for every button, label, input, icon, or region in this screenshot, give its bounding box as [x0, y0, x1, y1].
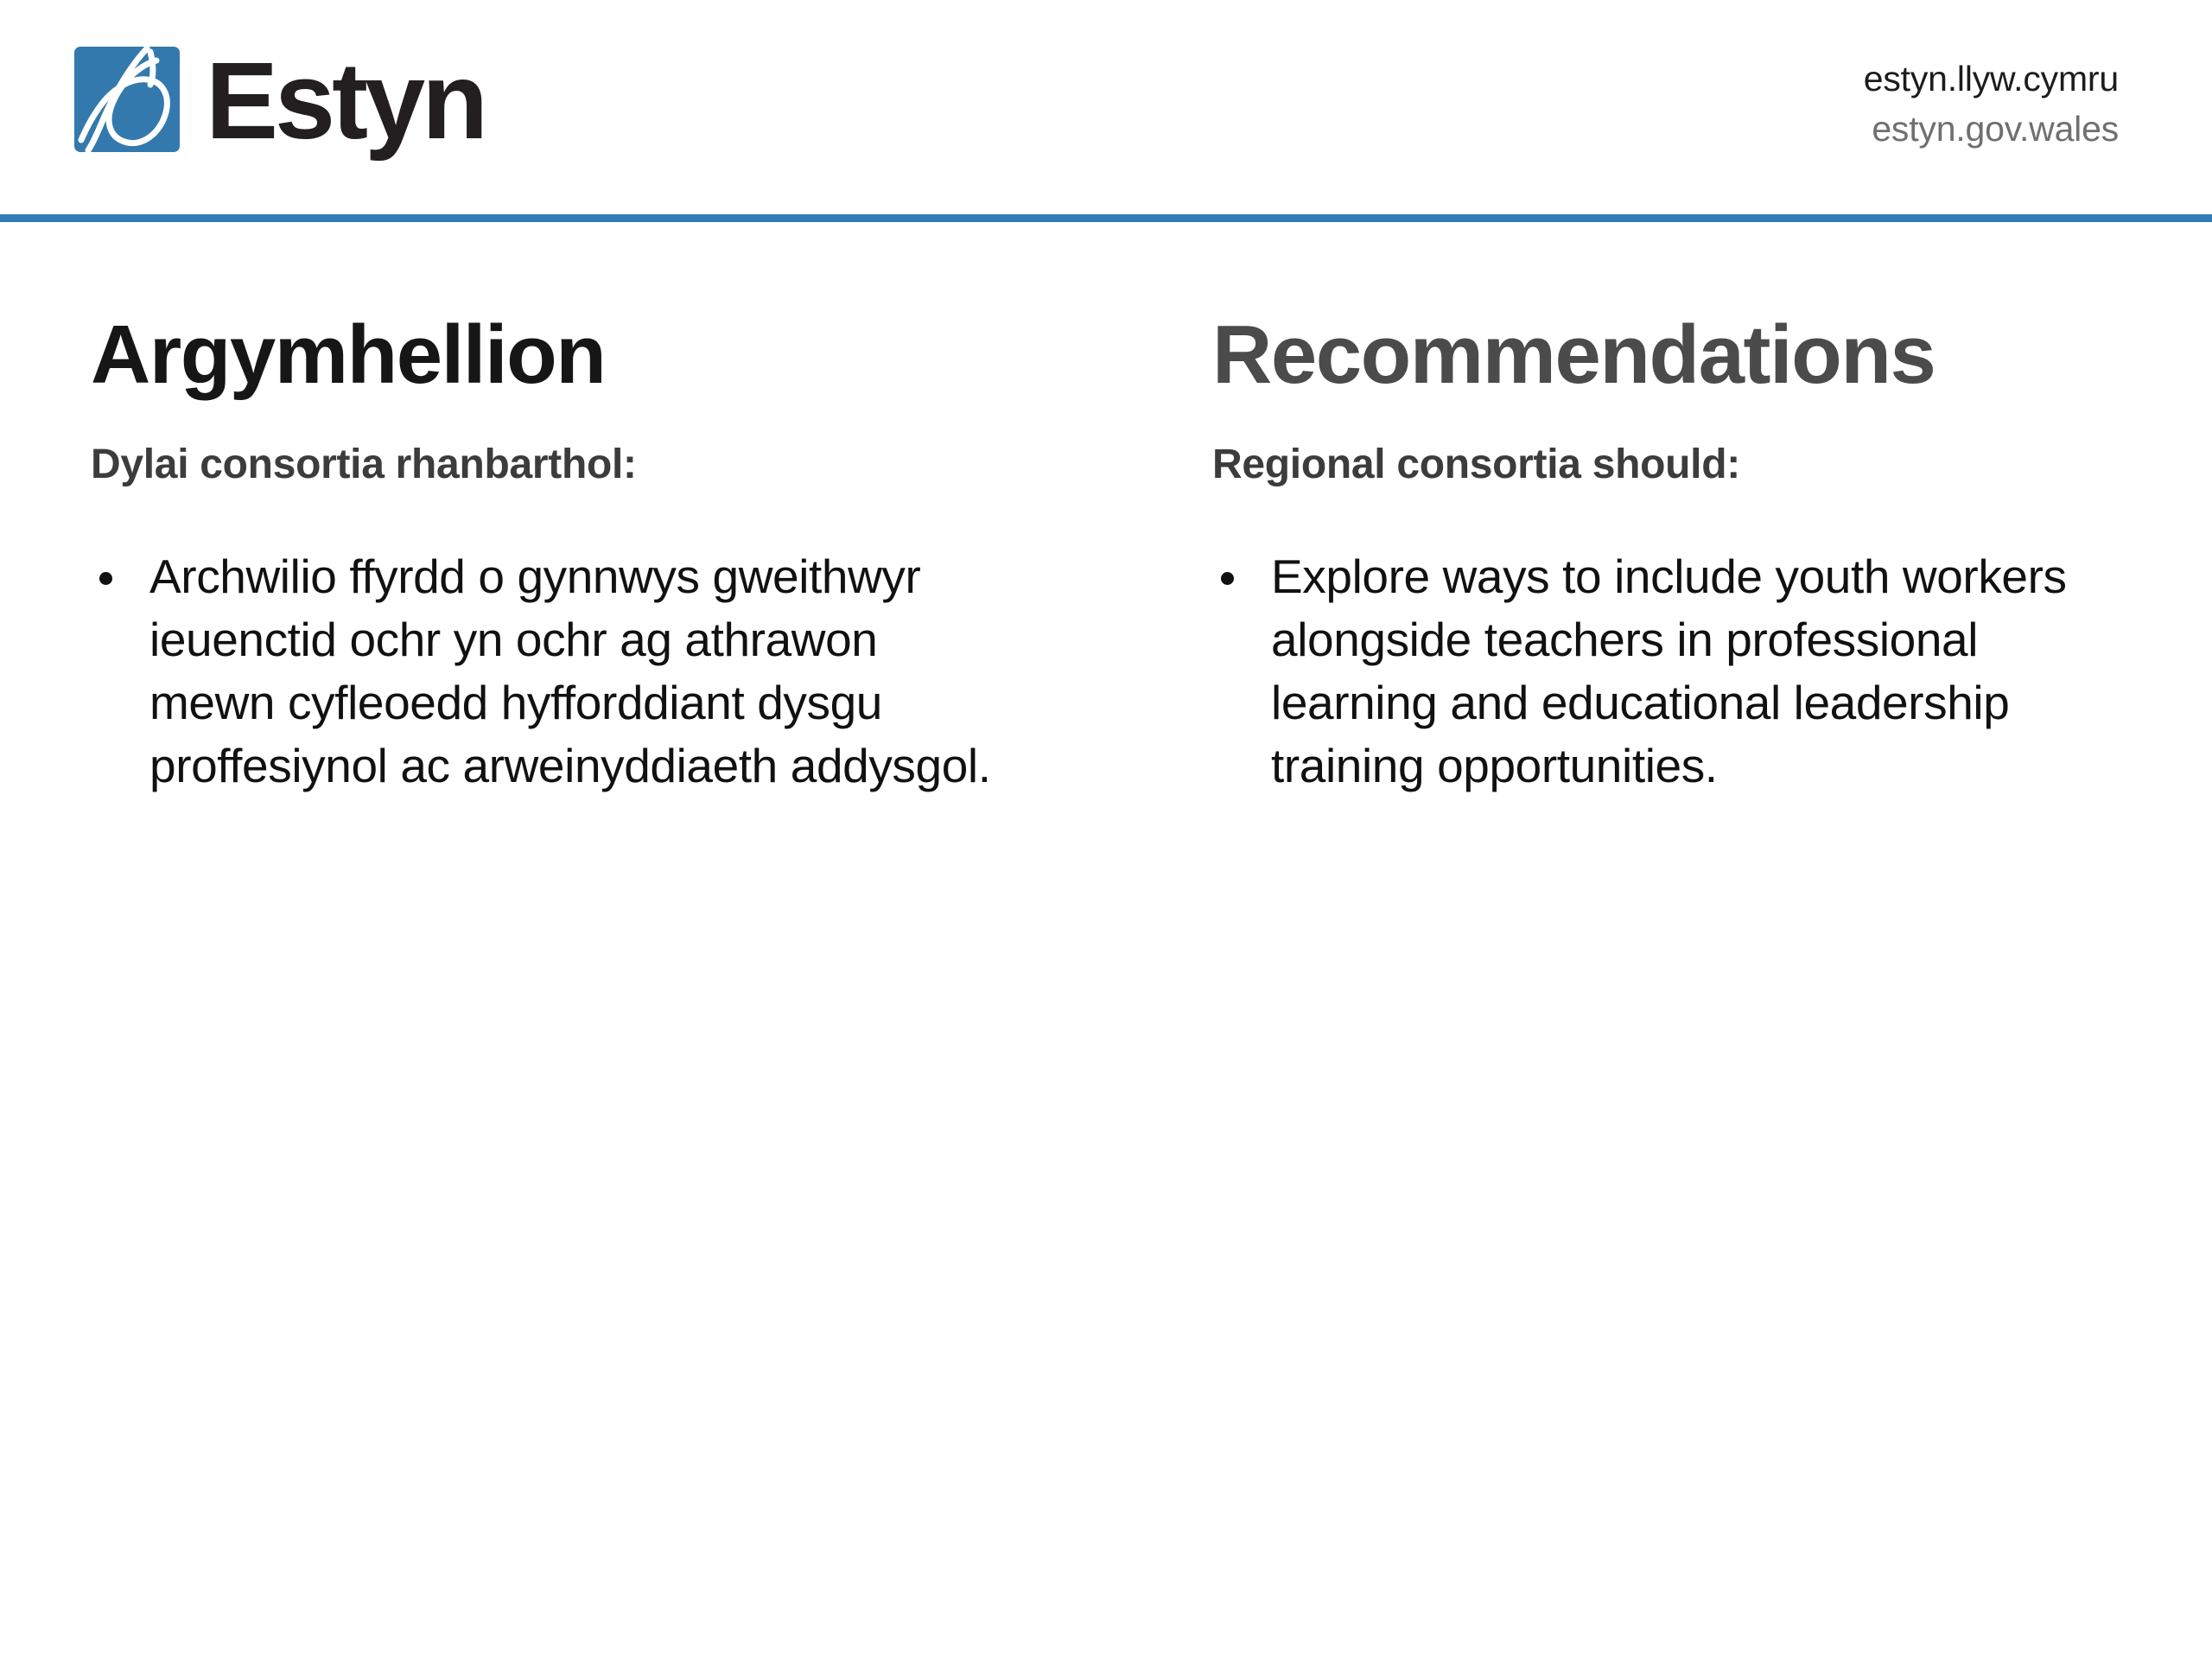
slide-canvas: Estyn estyn.llyw.cymru estyn.gov.wales A…: [0, 0, 2212, 1659]
slide-body: Argymhellion Dylai consortia rhanbarthol…: [0, 222, 2212, 1659]
url-cymru[interactable]: estyn.llyw.cymru: [1864, 54, 2119, 104]
column-english: Recommendations Regional consortia shoul…: [1037, 222, 2212, 1659]
list-item: Explore ways to include youth workers al…: [1212, 545, 2143, 798]
column-welsh: Argymhellion Dylai consortia rhanbarthol…: [0, 222, 1037, 1659]
english-subheading: Regional consortia should:: [1212, 440, 2143, 490]
url-wales[interactable]: estyn.gov.wales: [1864, 104, 2119, 154]
bullet-dot-icon: [1221, 572, 1234, 585]
welsh-bullet-list: Archwilio ffyrdd o gynnwys gweithwyr ieu…: [91, 545, 1011, 798]
welsh-heading: Argymhellion: [91, 310, 1011, 400]
slide-header: Estyn estyn.llyw.cymru estyn.gov.wales: [0, 0, 2212, 214]
estyn-brand: Estyn: [74, 45, 485, 154]
english-bullet-list: Explore ways to include youth workers al…: [1212, 545, 2143, 798]
english-heading: Recommendations: [1212, 310, 2143, 400]
estyn-logo-icon: [74, 47, 180, 152]
header-urls: estyn.llyw.cymru estyn.gov.wales: [1864, 54, 2119, 154]
welsh-bullet-text: Archwilio ffyrdd o gynnwys gweithwyr ieu…: [149, 545, 1011, 798]
list-item: Archwilio ffyrdd o gynnwys gweithwyr ieu…: [91, 545, 1011, 798]
english-bullet-text: Explore ways to include youth workers al…: [1271, 545, 2143, 798]
bullet-dot-icon: [99, 572, 112, 585]
header-divider-rule: [0, 214, 2212, 222]
welsh-subheading: Dylai consortia rhanbarthol:: [91, 440, 1011, 490]
estyn-wordmark: Estyn: [206, 47, 485, 156]
